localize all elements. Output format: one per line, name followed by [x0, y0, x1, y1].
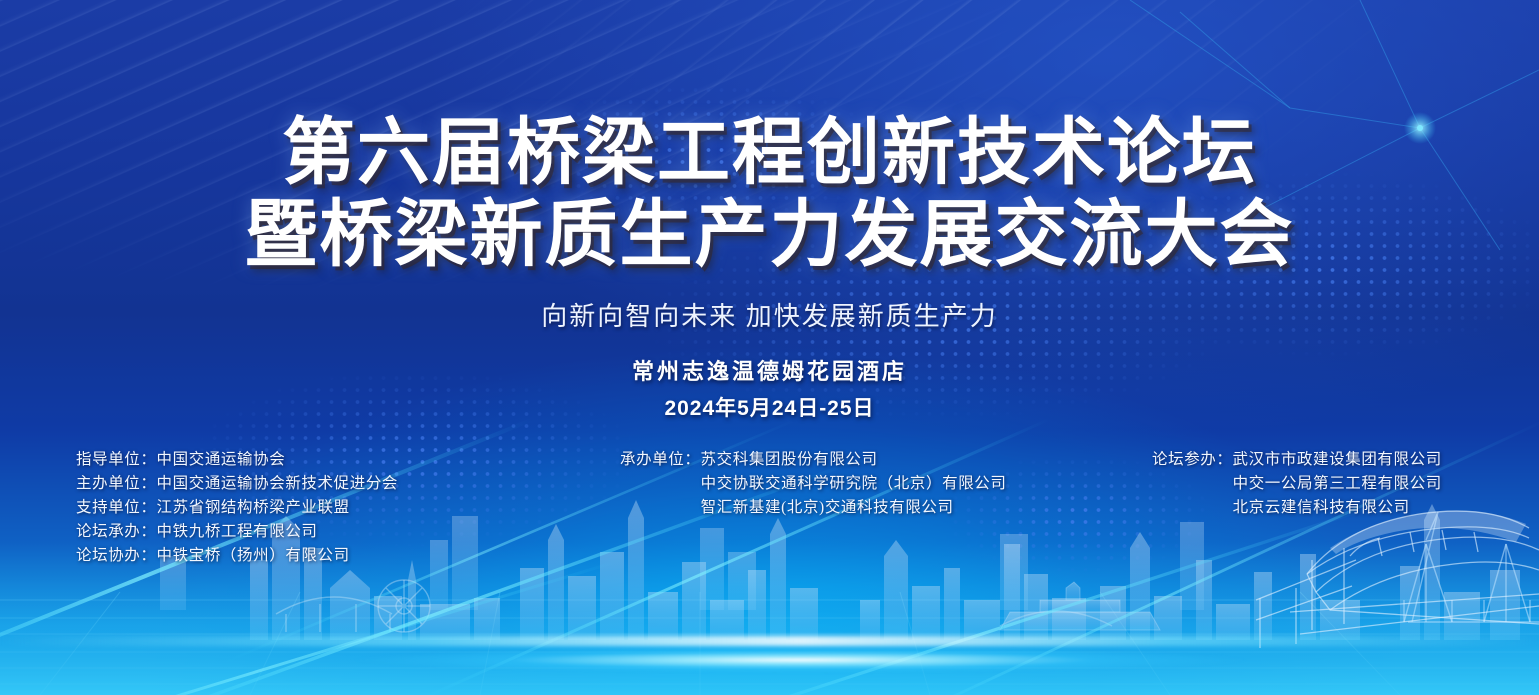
- organizer-row: 指导单位：中国交通运输协会: [76, 448, 398, 472]
- organizer-value: 江苏省钢结构桥梁产业联盟: [157, 499, 350, 516]
- organizer-row: 支持单位：江苏省钢结构桥梁产业联盟: [76, 496, 398, 520]
- organizer-value: 武汉市市政建设集团有限公司: [1233, 451, 1442, 468]
- organizer-row: 中交一公局第三工程有限公司: [1152, 472, 1442, 496]
- main-title: 第六届桥梁工程创新技术论坛 暨桥梁新质生产力发展交流大会: [0, 112, 1539, 276]
- organizer-label: 论坛承办：: [76, 520, 157, 544]
- organizer-row: 主办单位：中国交通运输协会新技术促进分会: [76, 472, 398, 496]
- organizer-value: 中交一公局第三工程有限公司: [1233, 475, 1442, 492]
- organizer-label: 指导单位：: [76, 448, 157, 472]
- organizers-left-column: 指导单位：中国交通运输协会 主办单位：中国交通运输协会新技术促进分会 支持单位：…: [76, 448, 398, 568]
- organizer-label: 论坛协办：: [76, 544, 157, 568]
- organizer-value: 智汇新基建(北京)交通科技有限公司: [701, 499, 954, 516]
- title-line-1: 第六届桥梁工程创新技术论坛: [0, 112, 1539, 194]
- organizer-label: 承办单位：: [620, 448, 701, 472]
- organizer-value: 北京云建信科技有限公司: [1233, 499, 1410, 516]
- organizers-middle-column: 承办单位：苏交科集团股份有限公司 中交协联交通科学研究院（北京）有限公司 智汇新…: [620, 448, 1007, 520]
- venue-name: 常州志逸温德姆花园酒店: [0, 354, 1539, 386]
- organizer-row: 论坛承办：中铁九桥工程有限公司: [76, 520, 398, 544]
- organizer-label: 论坛参办：: [1152, 448, 1233, 472]
- organizer-row: 承办单位：苏交科集团股份有限公司: [620, 448, 1007, 472]
- organizer-row: 论坛参办：武汉市市政建设集团有限公司: [1152, 448, 1442, 472]
- title-line-2: 暨桥梁新质生产力发展交流大会: [0, 194, 1539, 276]
- organizer-value: 中交协联交通科学研究院（北京）有限公司: [701, 475, 1007, 492]
- organizer-value: 中国交通运输协会新技术促进分会: [157, 475, 399, 492]
- organizer-label: 支持单位：: [76, 496, 157, 520]
- organizer-value: 中国交通运输协会: [157, 451, 286, 468]
- venue-block: 常州志逸温德姆花园酒店 2024年5月24日-25日: [0, 354, 1539, 422]
- subtitle: 向新向智向未来 加快发展新质生产力: [0, 296, 1539, 333]
- organizer-value: 苏交科集团股份有限公司: [701, 451, 878, 468]
- organizers-right-column: 论坛参办：武汉市市政建设集团有限公司 中交一公局第三工程有限公司 北京云建信科技…: [1152, 448, 1442, 520]
- organizer-row: 中交协联交通科学研究院（北京）有限公司: [620, 472, 1007, 496]
- conference-banner: 第六届桥梁工程创新技术论坛 暨桥梁新质生产力发展交流大会 向新向智向未来 加快发…: [0, 0, 1539, 695]
- organizer-row: 论坛协办：中铁宝桥（扬州）有限公司: [76, 544, 398, 568]
- organizer-value: 中铁九桥工程有限公司: [157, 523, 318, 540]
- banner-content: 第六届桥梁工程创新技术论坛 暨桥梁新质生产力发展交流大会 向新向智向未来 加快发…: [0, 0, 1539, 695]
- organizer-row: 北京云建信科技有限公司: [1152, 496, 1442, 520]
- event-dates: 2024年5月24日-25日: [0, 392, 1539, 422]
- organizer-value: 中铁宝桥（扬州）有限公司: [157, 547, 350, 564]
- organizer-row: 智汇新基建(北京)交通科技有限公司: [620, 496, 1007, 520]
- organizer-label: 主办单位：: [76, 472, 157, 496]
